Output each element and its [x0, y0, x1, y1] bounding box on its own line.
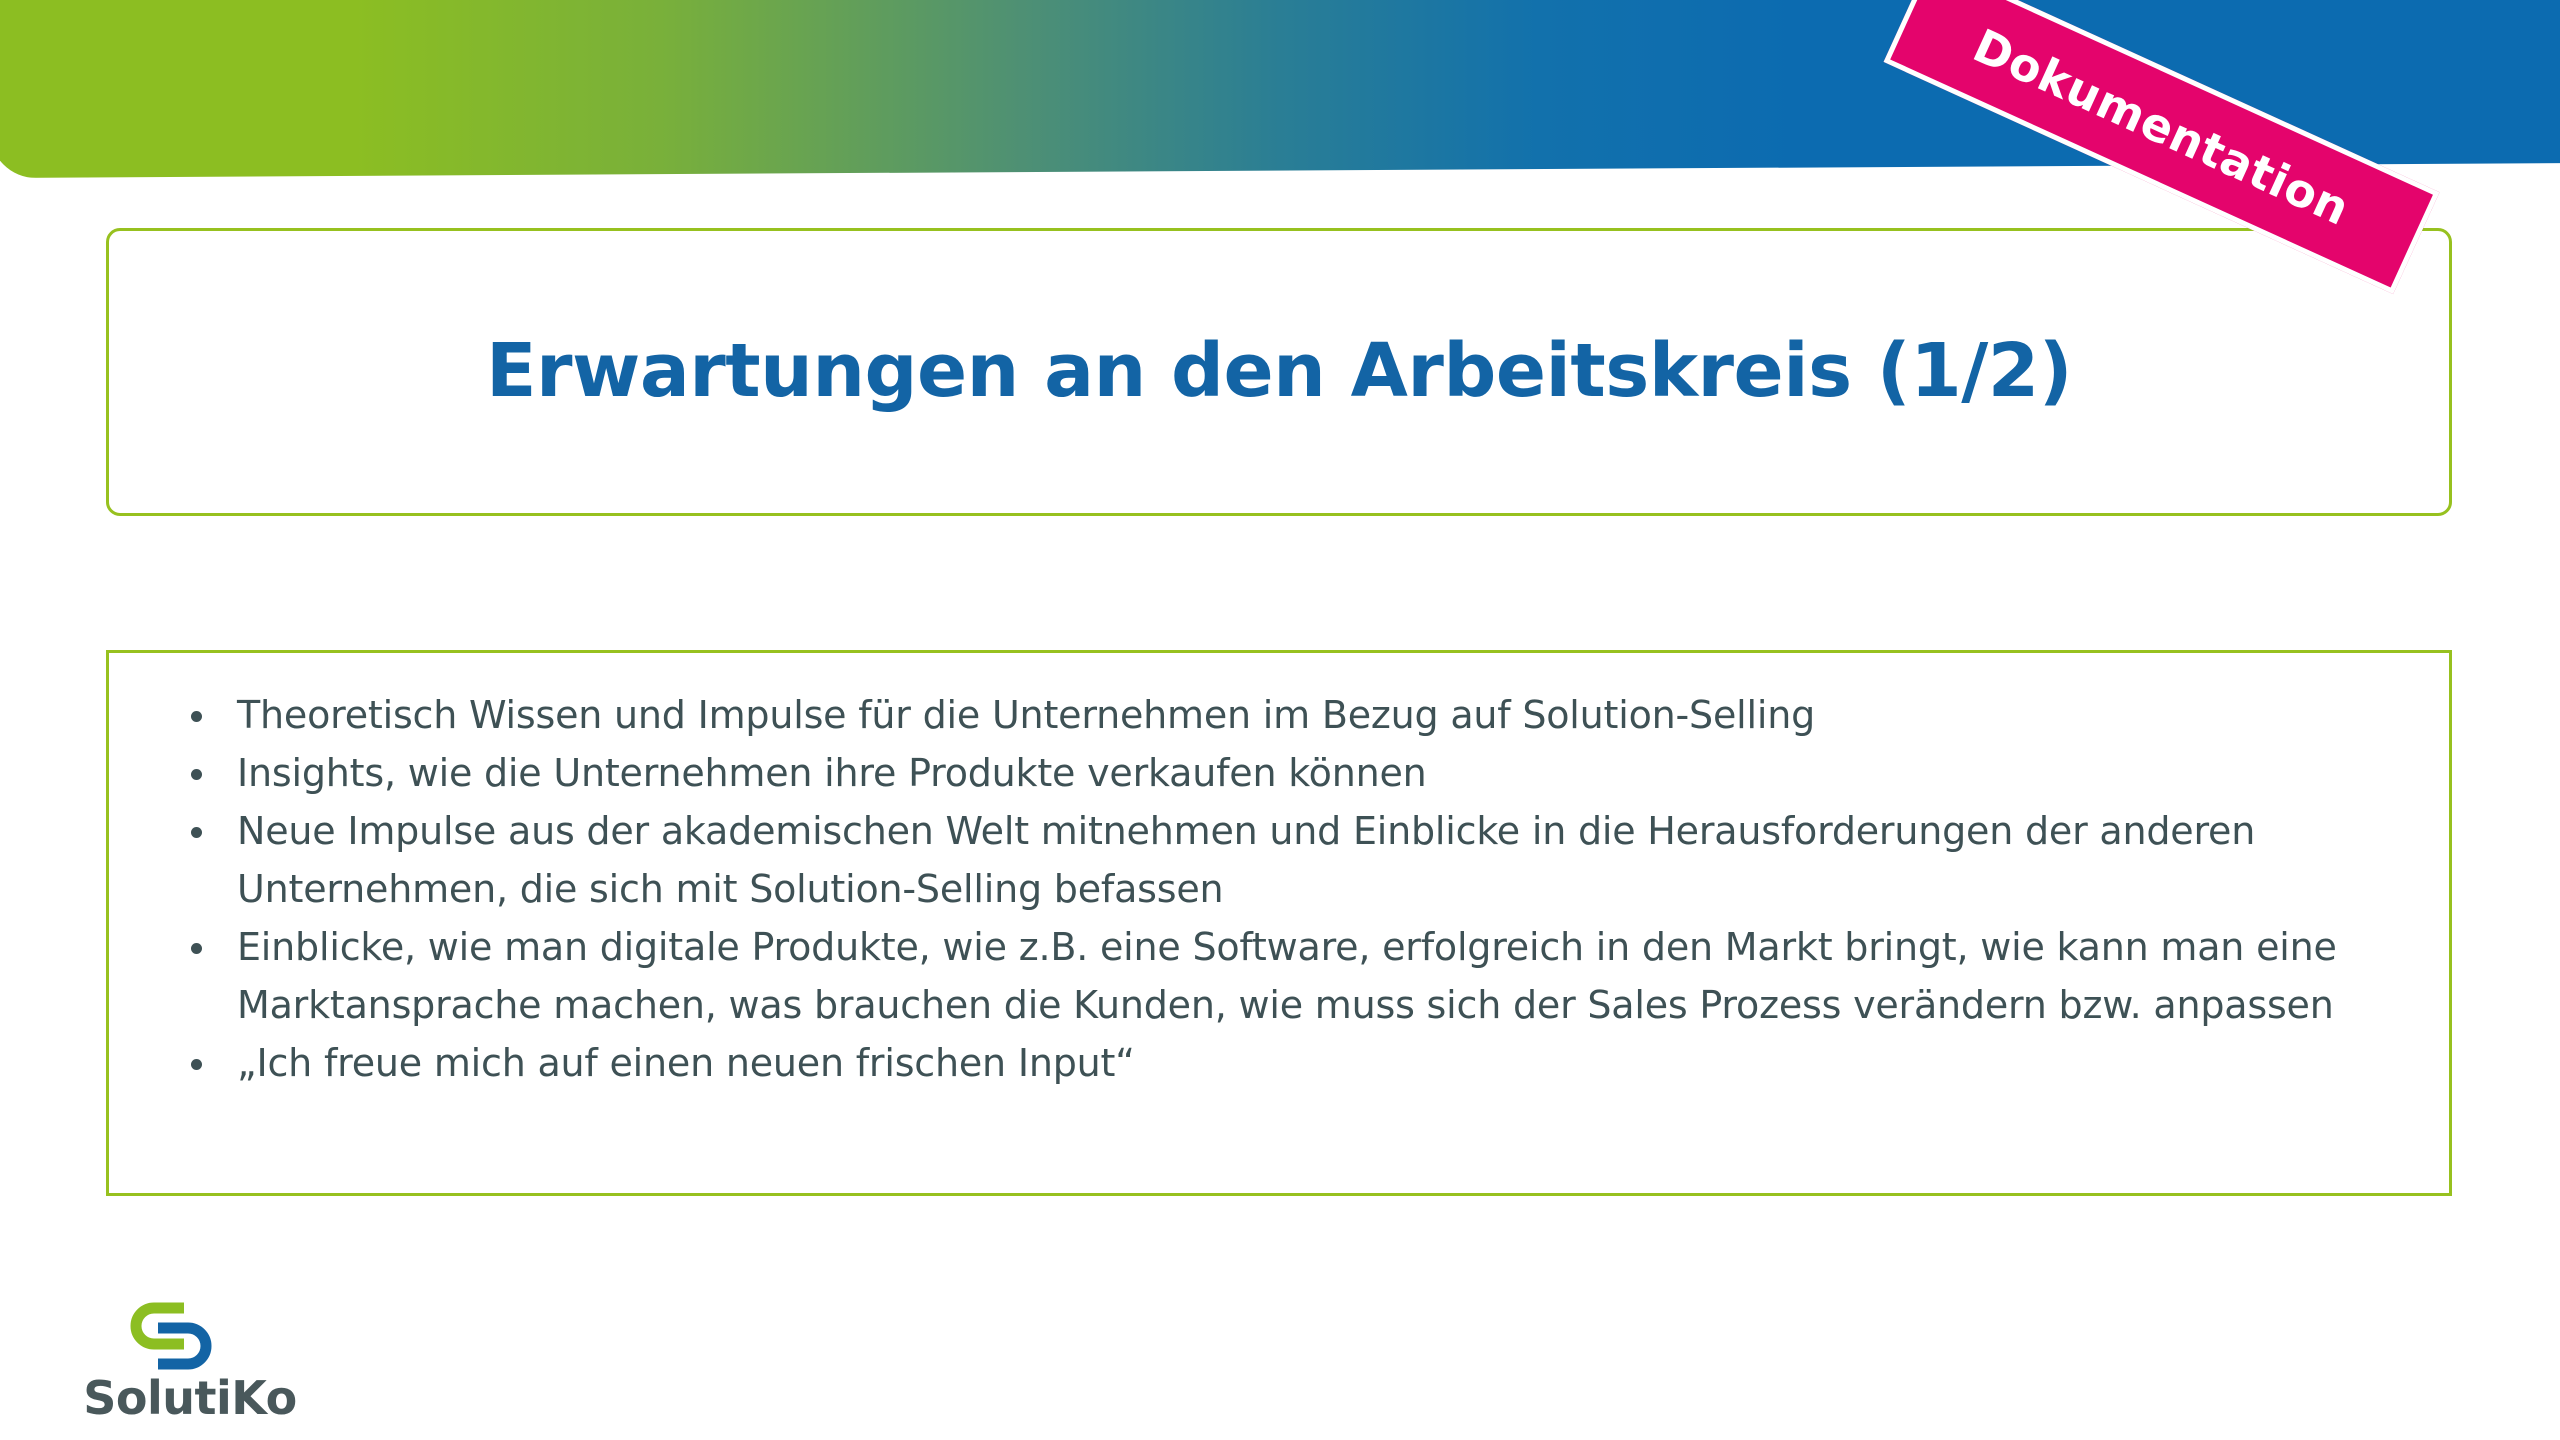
bullet-list: Theoretisch Wissen und Impulse für die U… — [109, 653, 2449, 1092]
list-item: Insights, wie die Unternehmen ihre Produ… — [169, 744, 2401, 802]
list-item: Einblicke, wie man digitale Produkte, wi… — [169, 918, 2401, 1034]
list-item: Theoretisch Wissen und Impulse für die U… — [169, 686, 2401, 744]
solutiko-logo: SolutiKo — [70, 1300, 310, 1428]
solutiko-logo-mark-icon — [128, 1300, 214, 1372]
solutiko-wordmark: SolutiKo — [70, 1372, 310, 1424]
content-box: Theoretisch Wissen und Impulse für die U… — [106, 650, 2452, 1196]
list-item: „Ich freue mich auf einen neuen frischen… — [169, 1034, 2401, 1092]
page-title: Erwartungen an den Arbeitskreis (1/2) — [486, 331, 2072, 412]
list-item: Neue Impulse aus der akademischen Welt m… — [169, 802, 2401, 918]
title-box: Erwartungen an den Arbeitskreis (1/2) — [106, 228, 2452, 516]
slide-root: Dokumentation Erwartungen an den Arbeits… — [0, 0, 2560, 1440]
